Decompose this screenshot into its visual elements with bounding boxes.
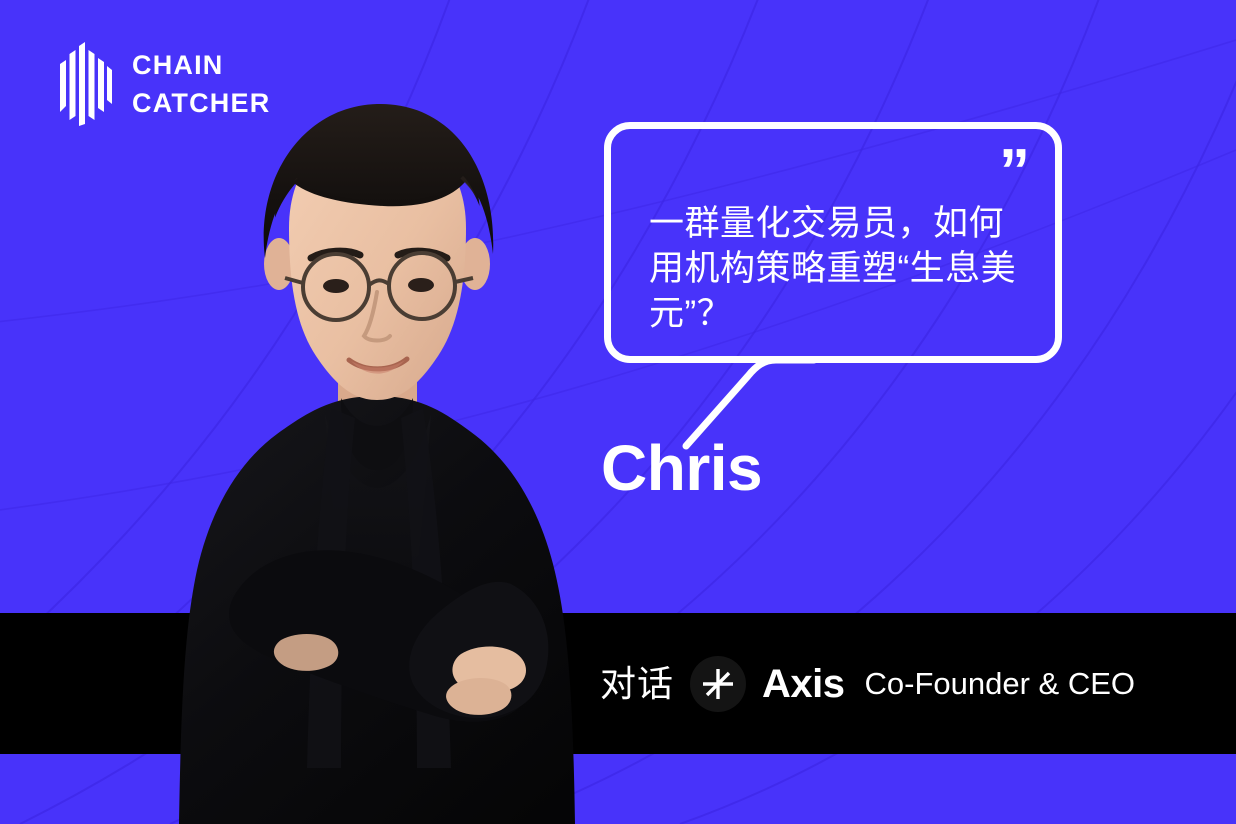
quote-bubble: ” 一群量化交易员，如何用机构策略重塑“生息美元”？ [604, 122, 1062, 452]
footer-content: 对话 Axis Co-Founder & CEO [600, 613, 1236, 754]
speaker-portrait [155, 78, 600, 824]
quote-bubble-box: ” 一群量化交易员，如何用机构策略重塑“生息美元”？ [604, 122, 1062, 363]
brand-line-2: CATCHER [132, 84, 270, 122]
axis-asterisk-icon [698, 664, 738, 704]
poster-canvas: CHAIN CATCHER [0, 0, 1236, 824]
footer-company: Axis [762, 662, 845, 706]
footer-role: Co-Founder & CEO [865, 666, 1136, 702]
brand-line-1: CHAIN [132, 46, 270, 84]
footer-dialog-label: 对话 [600, 664, 674, 704]
axis-logo-badge [690, 656, 746, 712]
quote-text: 一群量化交易员，如何用机构策略重塑“生息美元”？ [649, 201, 1039, 336]
speaker-name: Chris [601, 432, 762, 504]
chain-catcher-bars-icon [60, 42, 112, 126]
quote-mark-icon: ” [999, 141, 1027, 203]
brand-wordmark: CHAIN CATCHER [132, 46, 270, 122]
brand-logo[interactable]: CHAIN CATCHER [60, 42, 270, 126]
